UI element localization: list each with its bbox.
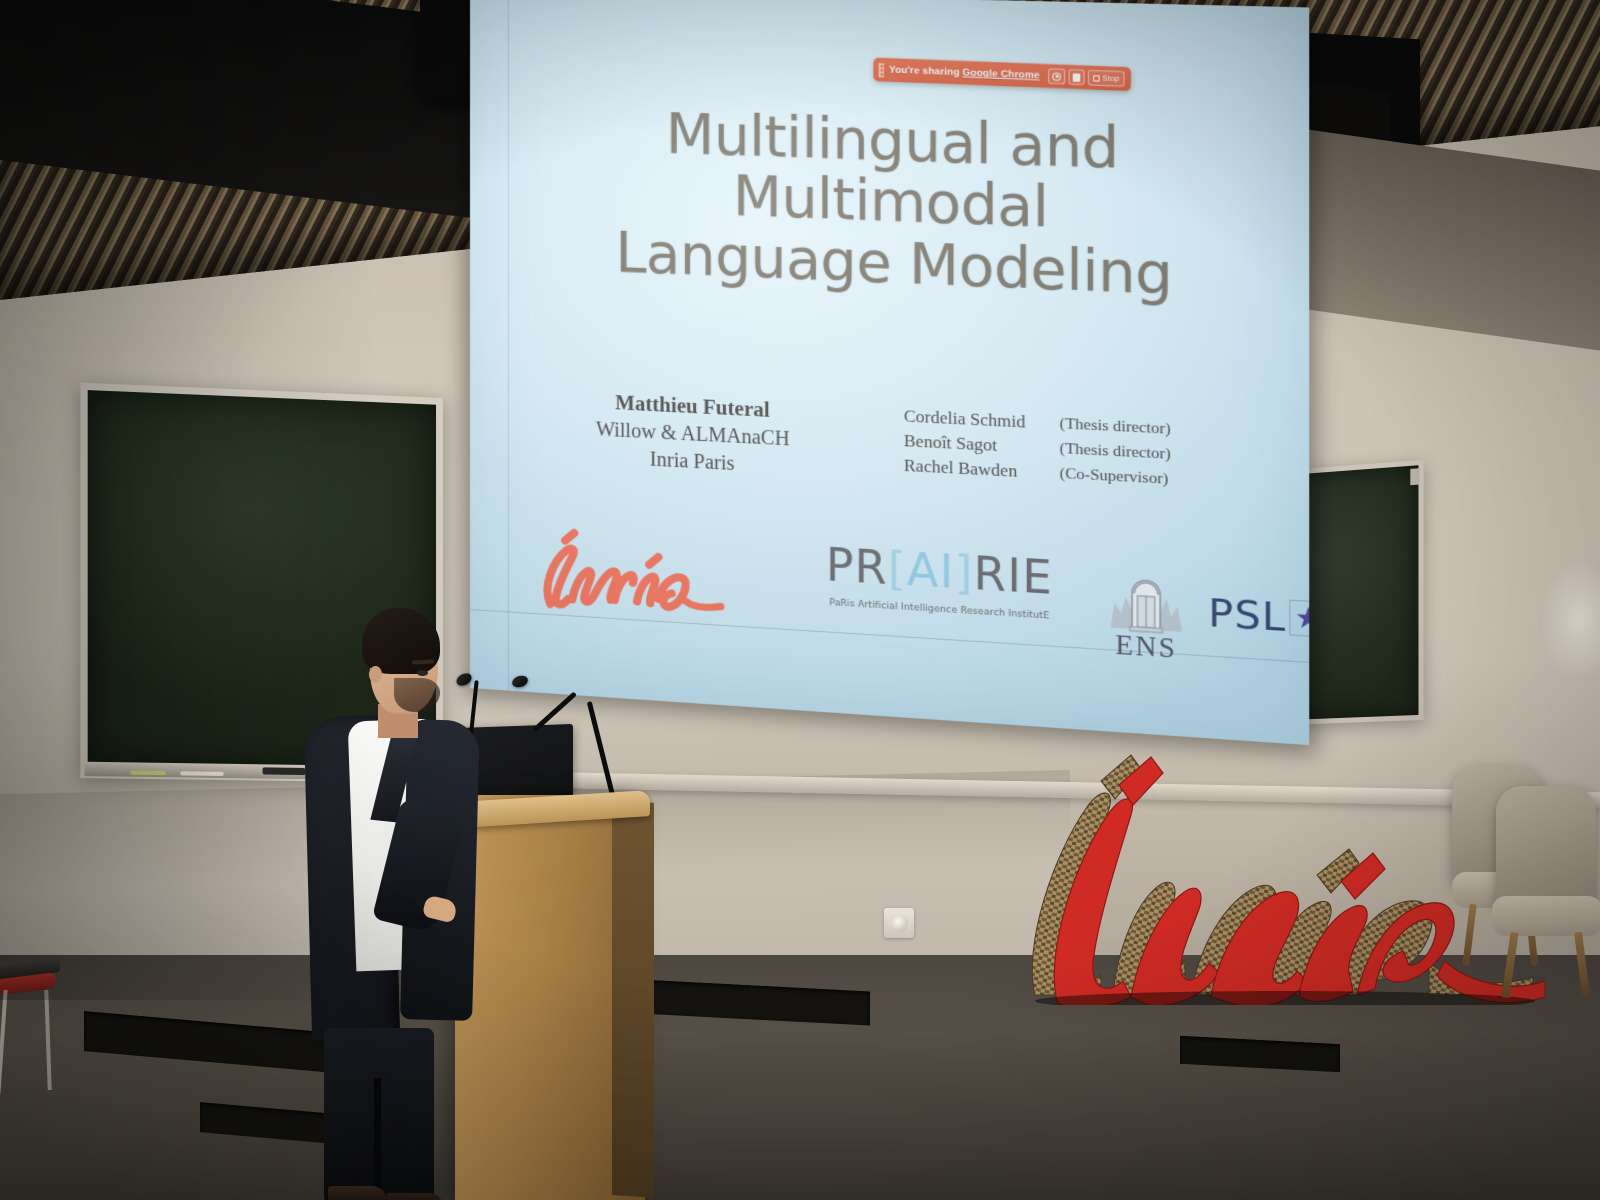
prairie-bracket-open: [ [888, 543, 907, 597]
armchair-front-seat [1492, 896, 1600, 936]
psl-star-box: ★ [1290, 600, 1310, 638]
projection-screen: You're sharing Google Chrome Stop [470, 0, 1309, 745]
share-app-name: Google Chrome [962, 67, 1039, 81]
chalk-piece-white [180, 771, 223, 776]
armchair-front-leg-1 [1501, 932, 1518, 998]
committee-person-3: Rachel Bawden [904, 453, 1026, 484]
armchair-front-leg-2 [1574, 932, 1590, 996]
equipment-cart [0, 962, 68, 1092]
eraser [263, 767, 306, 775]
prairie-logo: PR[AI]RIE PaRis Artificial Intelligence … [818, 543, 1061, 622]
slide-title-line2: Language Modeling [530, 219, 1265, 309]
power-socket-2 [884, 908, 914, 938]
share-circle-glyph [1053, 72, 1062, 81]
speaker-shoe-left [328, 1186, 386, 1200]
presenter-block: Matthieu Futeral Willow & ALMAnaCH Inria… [520, 385, 868, 484]
speaker-leg-gap [374, 1078, 381, 1198]
cart-frame-right [44, 990, 51, 1090]
screen-seam-vertical [508, 0, 509, 691]
board-clip [1410, 468, 1419, 485]
wall-light-glare [1540, 560, 1600, 680]
pause-share-icon[interactable] [1069, 69, 1085, 85]
speaker-ear [369, 666, 382, 683]
share-prefix: You're sharing [889, 64, 960, 78]
armchair-front-rest [1496, 786, 1596, 910]
prairie-part2: RIE [974, 548, 1053, 605]
presentation-room-photo: You're sharing Google Chrome Stop [0, 0, 1600, 1200]
psl-text: PSL [1208, 590, 1286, 641]
prairie-wordmark: PR[AI]RIE [818, 543, 1061, 603]
logo-row: PR[AI]RIE PaRis Artificial Intelligence … [522, 516, 1300, 687]
star-icon: ★ [1294, 603, 1309, 634]
committee-roles: (Thesis director) (Thesis director) (Co-… [1060, 412, 1171, 501]
stop-share-label: Stop [1102, 73, 1119, 83]
ens-portal-icon [1104, 560, 1189, 636]
podium-side-panel [612, 800, 654, 1198]
share-banner-text: You're sharing Google Chrome [889, 64, 1040, 81]
stop-square-icon [1093, 75, 1100, 81]
prairie-part1: PR [826, 539, 888, 595]
committee-names: Cordelia Schmid Benoît Sagot Rachel Bawd… [904, 404, 1026, 493]
armchair-front [1496, 786, 1600, 996]
ens-mark: ENS [1104, 560, 1189, 665]
psl-mark: PSL ★ [1208, 590, 1309, 643]
chalk-piece-yellow [131, 771, 166, 776]
slide-title: Multilingual and Multimodal Language Mod… [530, 100, 1265, 309]
committee-role-3: (Co-Supervisor) [1060, 461, 1171, 492]
screen-share-banner[interactable]: You're sharing Google Chrome Stop [873, 58, 1131, 92]
speaker-beard [394, 678, 440, 712]
projected-slide: You're sharing Google Chrome Stop [470, 0, 1309, 745]
speaker-eye [417, 670, 428, 676]
ens-psl-logo: ENS PSL ★ [1104, 553, 1309, 681]
speaker [300, 608, 490, 1200]
authors-block: Matthieu Futeral Willow & ALMAnaCH Inria… [520, 385, 1298, 507]
prairie-ai: AI [907, 544, 955, 599]
speaker-hair [362, 608, 440, 674]
slide-title-line1: Multilingual and Multimodal [666, 101, 1119, 240]
armchair-back-leg-1 [1462, 904, 1477, 966]
drag-handle-icon[interactable] [879, 62, 884, 77]
speaker-shoe-right [386, 1193, 442, 1200]
prairie-bracket-close: ] [954, 547, 973, 601]
cart-frame-left [0, 990, 8, 1094]
share-screen-icon[interactable] [1048, 68, 1065, 84]
stop-share-button[interactable]: Stop [1088, 70, 1125, 87]
pause-glyph [1073, 73, 1081, 82]
share-banner-buttons: Stop [1048, 68, 1124, 86]
inria-logo-svg [532, 525, 746, 629]
inria-logo [532, 525, 746, 629]
